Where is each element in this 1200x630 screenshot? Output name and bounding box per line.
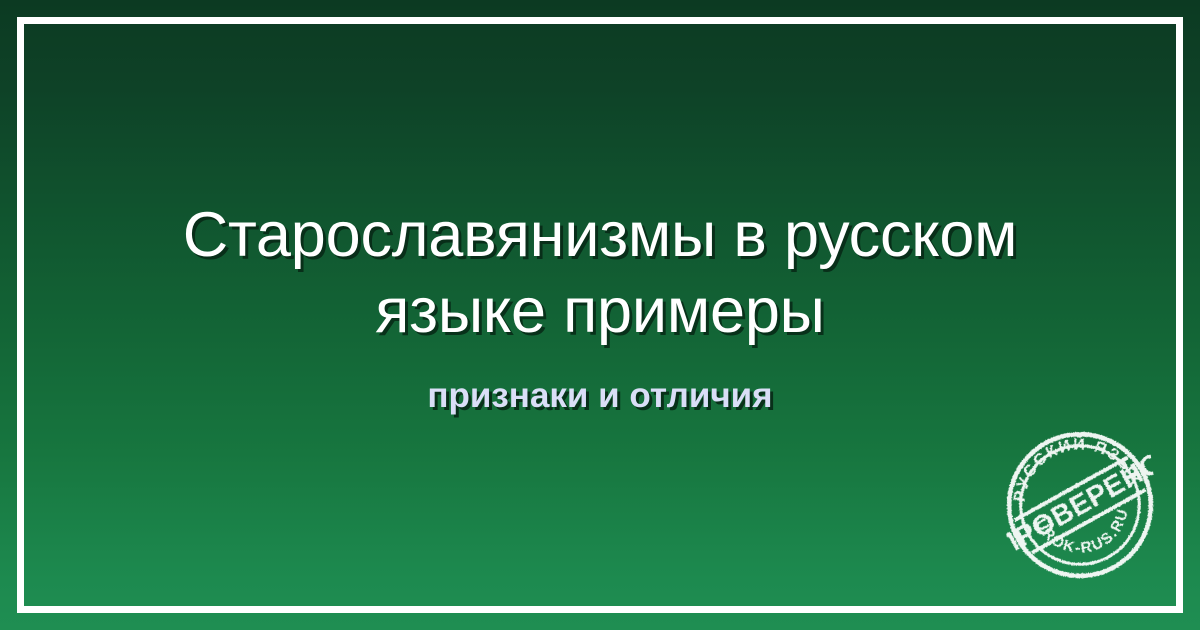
page-title: Старославянизмы в русском языке примеры <box>160 197 1040 349</box>
page-subtitle: признаки и отличия <box>427 375 772 417</box>
poster-canvas: Старославянизмы в русском языке примеры … <box>0 0 1200 630</box>
verified-stamp: РУССКИЙ ЯЗЫК UROK-RUS.RU ПРОВЕРЕНО <box>993 418 1167 592</box>
